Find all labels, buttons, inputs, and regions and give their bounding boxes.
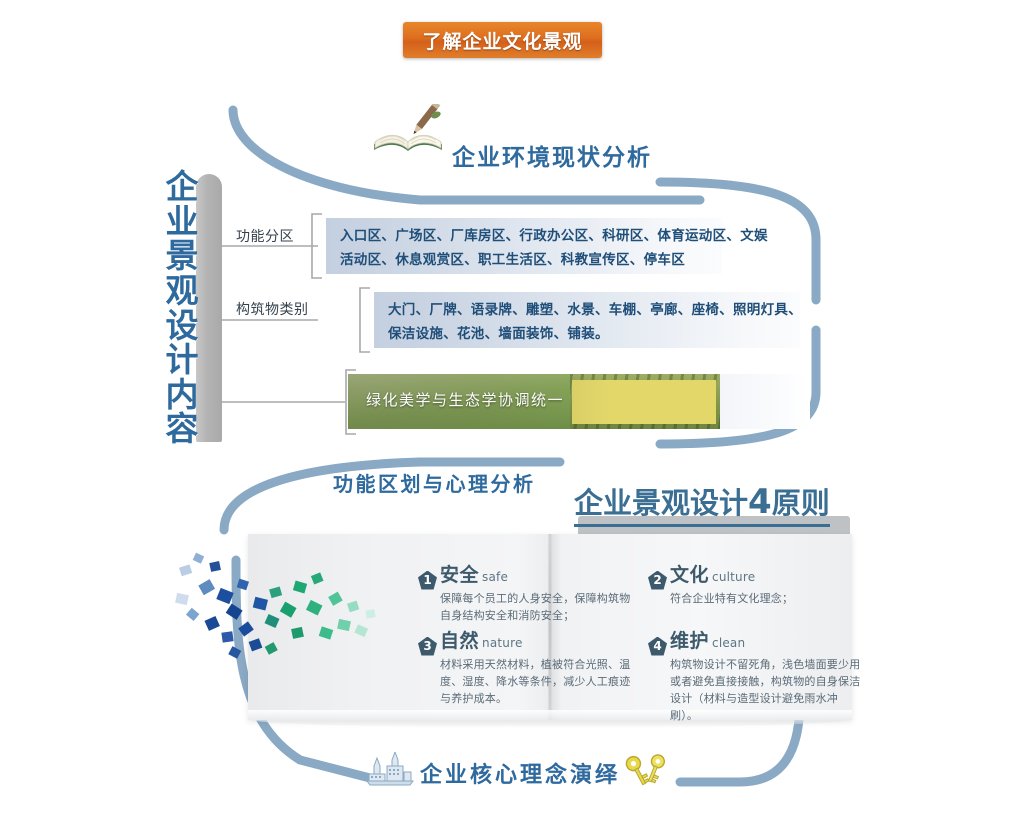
heading-environment-analysis: 企业环境现状分析 xyxy=(452,138,652,172)
principle-item-culture: 2 文化 culture 符合企业特有文化理念； xyxy=(648,560,863,607)
heading-zoning-psychology: 功能区划与心理分析 xyxy=(333,468,536,497)
principle-item-nature: 3 自然 nature 材料采用天然材料，植被符合光照、温度、湿度、降水等条件，… xyxy=(418,626,633,707)
tree-label-functional-zones: 功能分区 xyxy=(236,226,294,246)
content-line: 保洁设施、花池、墙面装饰、铺装。 xyxy=(388,323,786,347)
principle-header: 1 安全 safe xyxy=(418,560,633,587)
vertical-title-char: 企 xyxy=(166,170,199,205)
confetti-particles-icon xyxy=(170,536,390,716)
principle-item-clean: 4 维护 clean 构筑物设计不留死角，浅色墙面要少用或者避免直接接触，构筑物… xyxy=(648,626,863,724)
heading-core-concept: 企业核心理念演绎 xyxy=(420,757,620,789)
vertical-title-char: 观 xyxy=(166,274,199,309)
heading-suffix: 原则 xyxy=(772,486,830,520)
title-banner: 了解企业文化景观 xyxy=(403,22,602,58)
keys-icon xyxy=(624,752,670,788)
principle-description: 符合企业特有文化理念； xyxy=(670,590,863,607)
city-buildings-icon xyxy=(366,752,414,788)
content-line: 活动区、休息观赏区、职工生活区、科教宣传区、停车区 xyxy=(340,249,708,273)
principle-header: 4 维护 clean xyxy=(648,626,863,653)
principle-header: 3 自然 nature xyxy=(418,626,633,653)
heading-prefix: 企业景观设计 xyxy=(574,486,748,520)
principle-title-en: safe xyxy=(482,570,508,584)
photo-band-greening: 绿化美学与生态学协调统一 xyxy=(348,374,720,429)
vertical-title-char: 容 xyxy=(166,412,199,447)
vertical-title-char: 景 xyxy=(166,239,199,274)
principle-description: 构筑物设计不留死角，浅色墙面要少用或者避免直接接触，构筑物的自身保洁设计（材料与… xyxy=(670,656,863,724)
heading-four-principles: 企业景观设计4原则 xyxy=(574,480,830,527)
principle-title-en: nature xyxy=(482,636,523,650)
principle-number-badge: 2 xyxy=(648,571,667,590)
infographic-canvas: 了解企业文化景观 企业环境现状分析 企 业 景 观 设 计 内 容 xyxy=(0,0,1019,825)
vertical-title-char: 业 xyxy=(166,205,199,240)
principle-title: 安全 xyxy=(440,560,479,587)
principle-number-badge: 3 xyxy=(418,637,437,656)
vertical-title-char: 内 xyxy=(166,378,199,413)
principle-header: 2 文化 culture xyxy=(648,560,863,587)
book-with-pencil-icon xyxy=(370,104,450,156)
vertical-title-char: 计 xyxy=(166,343,199,378)
principle-title: 维护 xyxy=(670,626,709,653)
title-banner-text: 了解企业文化景观 xyxy=(422,27,582,54)
principle-title-en: culture xyxy=(712,570,755,584)
tree-label-structure-types: 构筑物类别 xyxy=(236,299,309,319)
photo-band-fade xyxy=(720,374,810,429)
content-box-functional-zones: 入口区、广场区、厂库房区、行政办公区、科研区、体育运动区、文娱 活动区、休息观赏… xyxy=(326,218,722,274)
heading-number: 4 xyxy=(748,482,772,522)
content-box-structure-types: 大门、厂牌、语录牌、雕塑、水景、车棚、亭廊、座椅、照明灯具、 保洁设施、花池、墙… xyxy=(374,292,800,348)
principle-item-safe: 1 安全 safe 保障每个员工的人身安全，保障构筑物自身结构安全和消防安全； xyxy=(418,560,633,624)
principle-description: 保障每个员工的人身安全，保障构筑物自身结构安全和消防安全； xyxy=(440,590,633,624)
principle-number-badge: 1 xyxy=(418,571,437,590)
principle-title: 文化 xyxy=(670,560,709,587)
content-line: 大门、厂牌、语录牌、雕塑、水景、车棚、亭廊、座椅、照明灯具、 xyxy=(388,299,786,323)
content-line: 入口区、广场区、厂库房区、行政办公区、科研区、体育运动区、文娱 xyxy=(340,225,708,249)
photo-band-caption: 绿化美学与生态学协调统一 xyxy=(366,389,564,410)
principle-description: 材料采用天然材料，植被符合光照、温度、湿度、降水等条件，减少人工痕迹与养护成本。 xyxy=(440,656,633,707)
principle-number-badge: 4 xyxy=(648,637,667,656)
vertical-title-char: 设 xyxy=(166,309,199,344)
principle-title-en: clean xyxy=(712,636,745,650)
vertical-title: 企 业 景 观 设 计 内 容 xyxy=(160,170,204,450)
principle-title: 自然 xyxy=(440,626,479,653)
